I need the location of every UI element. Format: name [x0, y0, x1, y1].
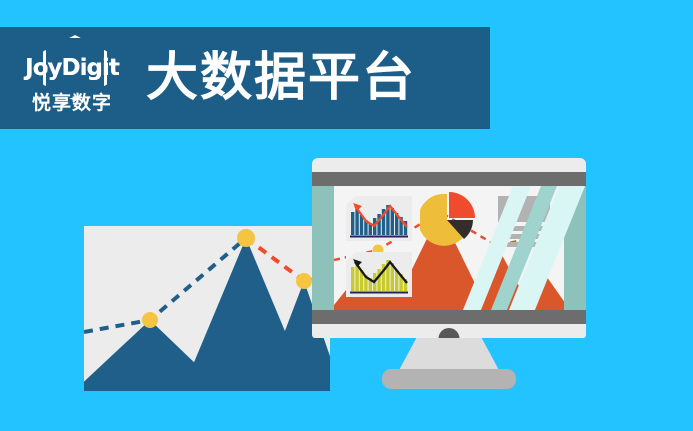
data-marker	[296, 273, 312, 289]
mountain-area-chart-panel	[84, 226, 330, 391]
bar-chart-yellow	[346, 252, 412, 297]
page-title: 大数据平台	[146, 52, 416, 104]
logo-subtext: 悦享数字	[32, 94, 112, 113]
card-fold-corner-icon	[346, 196, 355, 205]
baseline-axis	[350, 236, 408, 238]
monitor-bottom-bezel	[312, 310, 586, 324]
monitor-screen	[312, 186, 586, 310]
logo-wordmark: JoyDigit	[25, 57, 119, 80]
data-marker	[142, 312, 158, 328]
monitor-top-bezel	[312, 172, 586, 186]
brand-logo: JoyDigit 悦享数字	[16, 35, 128, 121]
desktop-monitor	[312, 158, 586, 338]
poster-canvas: JoyDigit 悦享数字 大数据平台	[0, 0, 693, 431]
screen-left-strip	[312, 186, 334, 310]
monitor-base	[382, 369, 516, 389]
bar-chart-blue	[346, 196, 412, 241]
baseline-axis	[350, 292, 408, 294]
monitor-stand-shape	[398, 338, 500, 372]
bar-chart-blue-card[interactable]	[346, 196, 412, 241]
bar-chart-yellow-card[interactable]	[346, 252, 412, 297]
pie-chart[interactable]	[420, 192, 478, 250]
header-banner: JoyDigit 悦享数字 大数据平台	[0, 27, 490, 129]
card-fold-corner-icon	[346, 252, 355, 261]
left-mountain-svg	[84, 226, 330, 391]
pie-slice-red	[449, 192, 475, 218]
data-marker	[237, 229, 255, 247]
monitor-stand	[398, 338, 500, 372]
